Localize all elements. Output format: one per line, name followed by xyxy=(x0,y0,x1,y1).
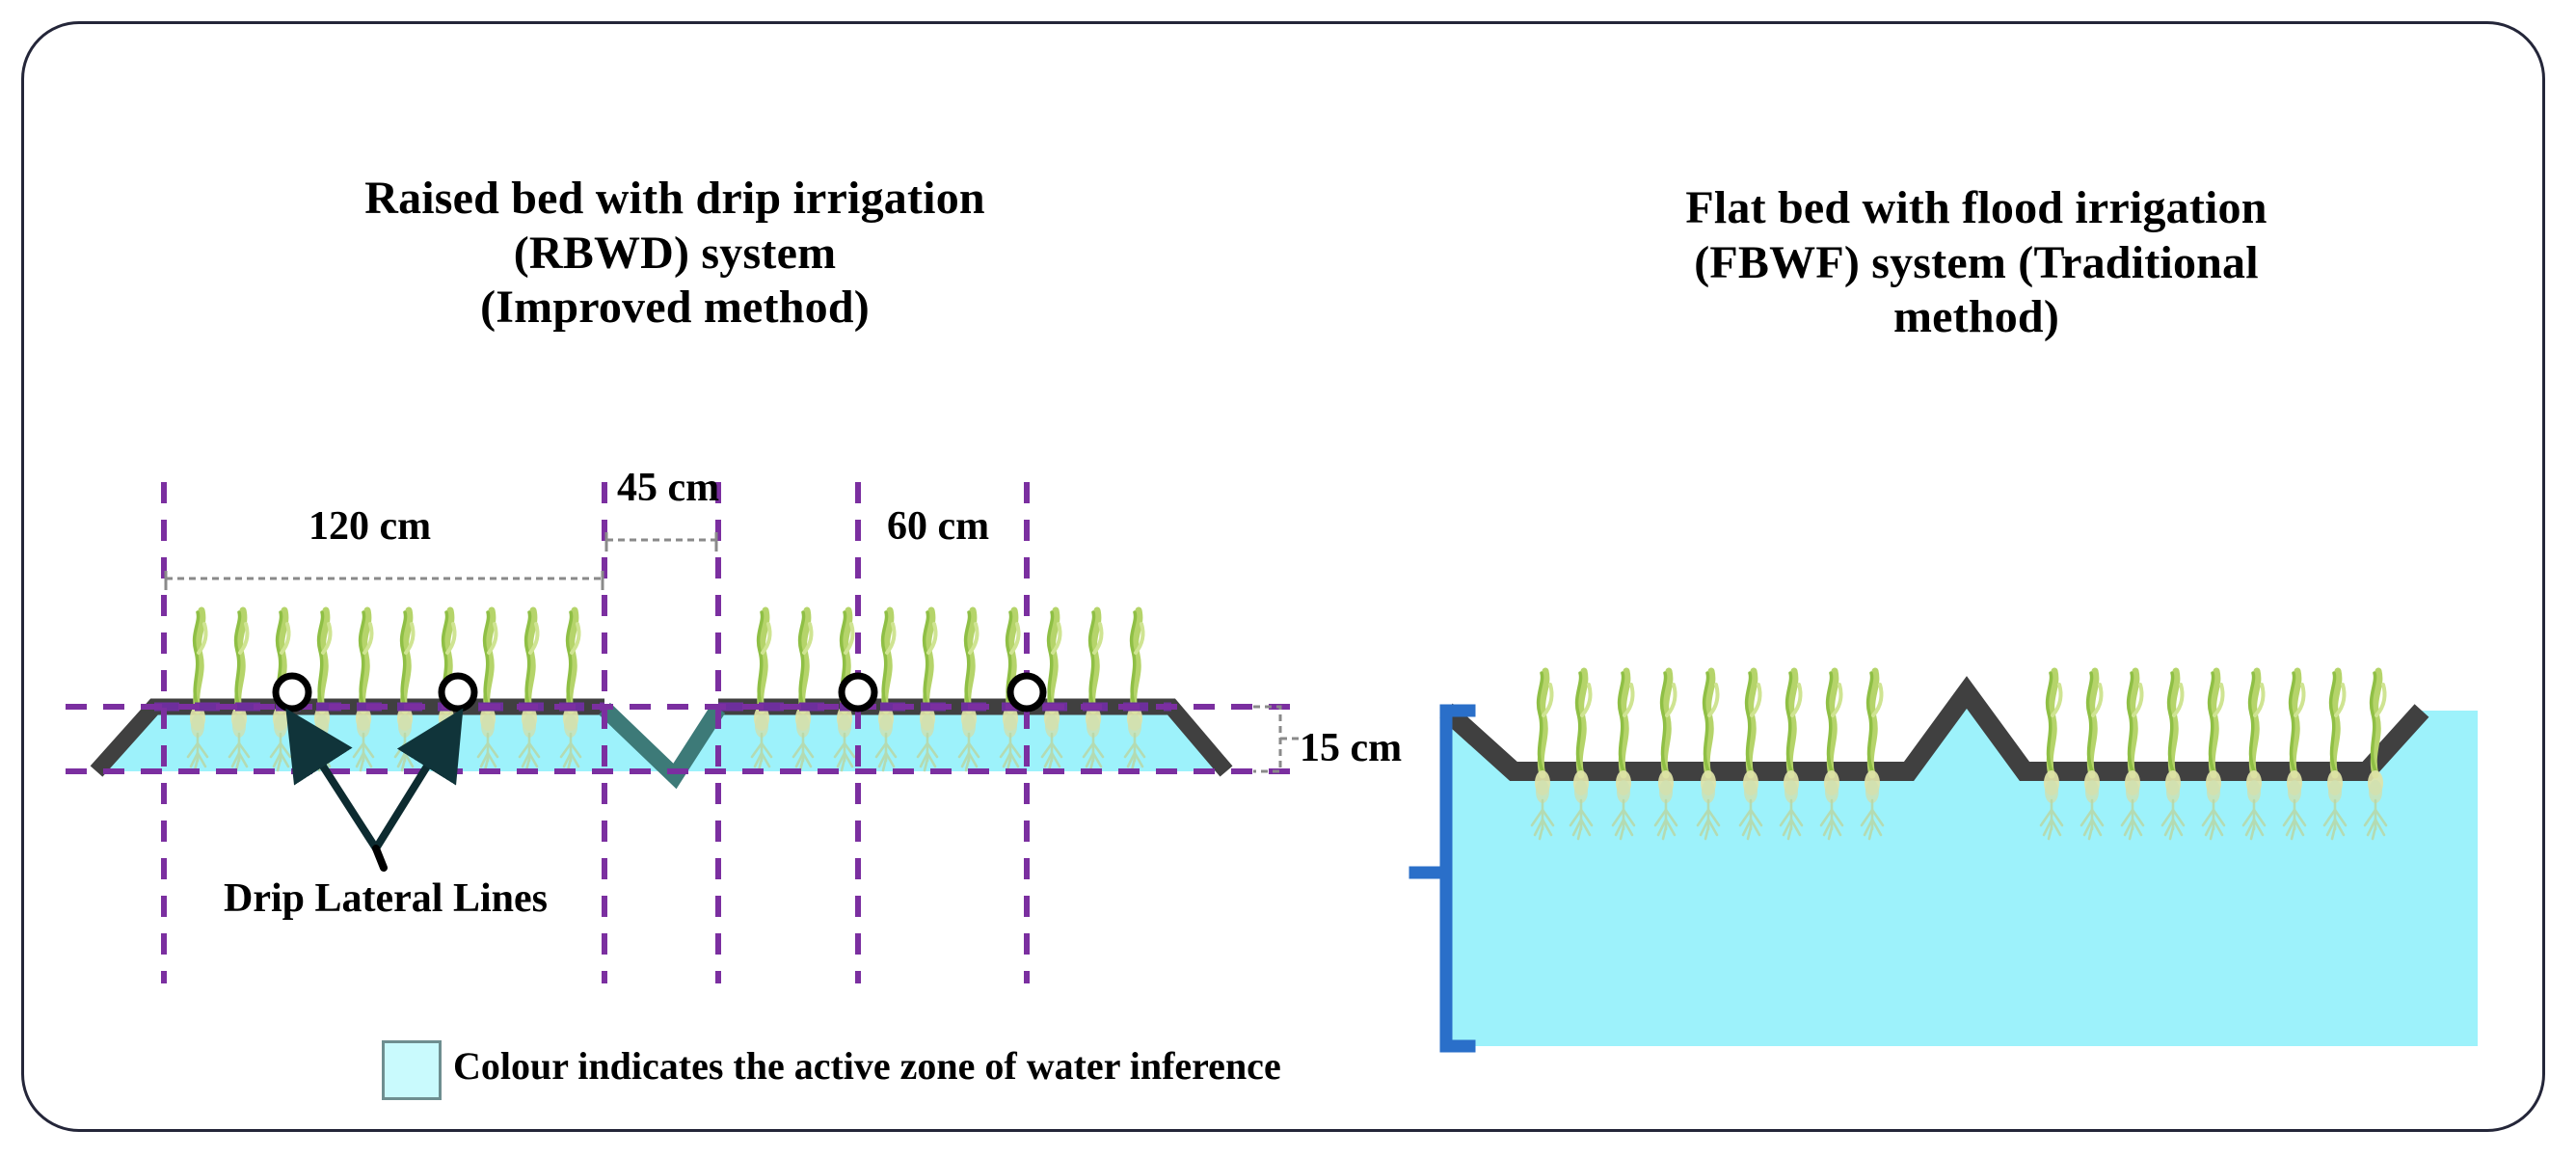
label-lateral-spacing: 60 cm xyxy=(887,503,989,550)
legend-label: Colour indicates the active zone of wate… xyxy=(453,1043,1281,1089)
label-furrow-width: 45 cm xyxy=(617,465,719,511)
figure-root: Raised bed with drip irrigation (RBWD) s… xyxy=(0,0,2576,1157)
legend-color-swatch xyxy=(382,1040,442,1100)
rbwd-dimension-leaders xyxy=(166,540,716,578)
drip-emitter-2 xyxy=(442,676,474,709)
label-bed-width: 120 cm xyxy=(309,503,431,550)
drip-emitter-3 xyxy=(842,676,874,709)
label-bed-height: 15 cm xyxy=(1300,725,1402,771)
label-drip-lateral-lines: Drip Lateral Lines xyxy=(224,875,548,922)
drip-emitter-4 xyxy=(1010,676,1043,709)
fbwf-water-zone xyxy=(1446,692,2478,1046)
drip-emitter-1 xyxy=(276,676,309,709)
fbwf-plants-right xyxy=(2041,671,2386,839)
fbwf-plants-left xyxy=(1532,671,1883,839)
dim-bracket-15cm xyxy=(1253,707,1303,771)
rbwd-diagram xyxy=(0,0,2576,1157)
